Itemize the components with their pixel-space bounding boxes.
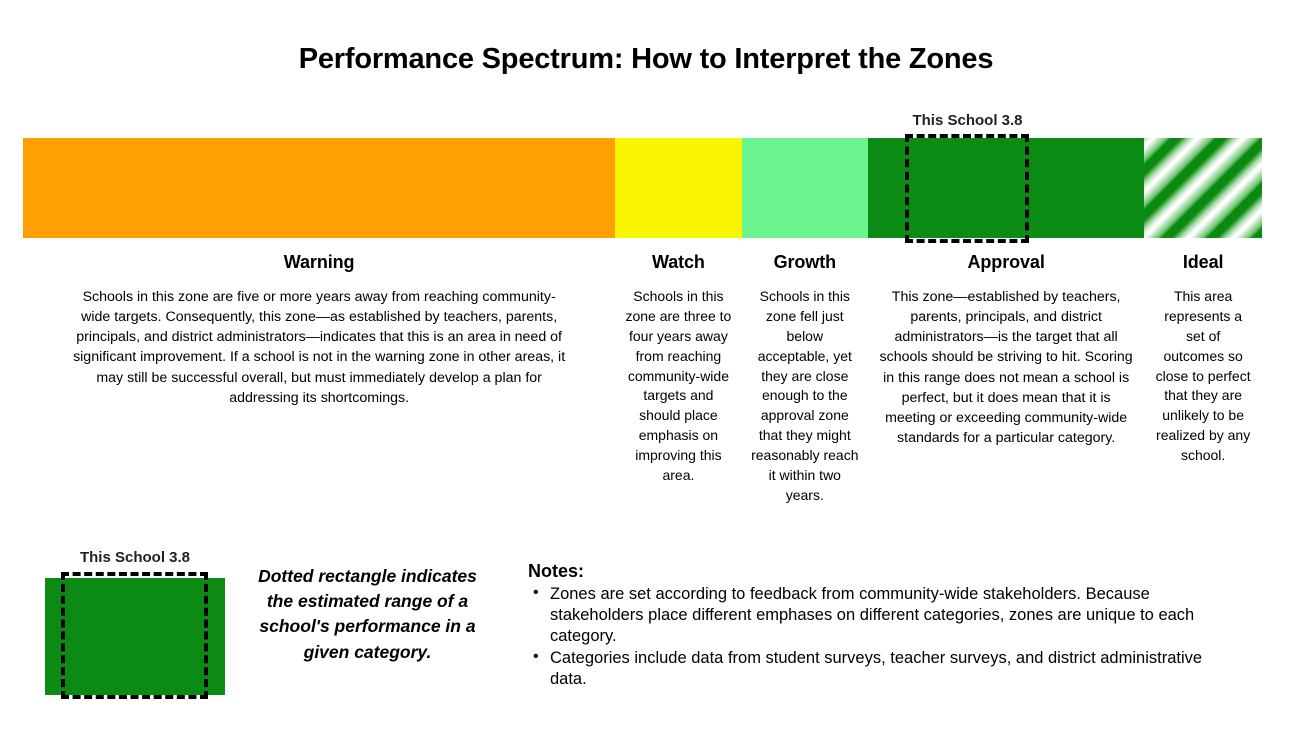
- legend-caption: Dotted rectangle indicates the estimated…: [255, 564, 480, 665]
- note-item: Categories include data from student sur…: [528, 648, 1228, 690]
- notes-heading: Notes:: [528, 561, 1228, 582]
- zone-description-approval: This zone—established by teachers, paren…: [868, 287, 1144, 448]
- zone-label-approval: Approval: [868, 252, 1144, 273]
- zone-column-growth: GrowthSchools in this zone fell just bel…: [742, 252, 868, 506]
- notes-section: Notes: Zones are set according to feedba…: [528, 561, 1228, 691]
- zone-description-ideal: This area represents a set of outcomes s…: [1144, 287, 1262, 466]
- zone-label-warning: Warning: [23, 252, 615, 273]
- page-title: Performance Spectrum: How to Interpret t…: [0, 43, 1292, 76]
- this-school-marker-label: This School 3.8: [845, 112, 1090, 129]
- zone-band-watch: [615, 138, 741, 238]
- notes-list: Zones are set according to feedback from…: [528, 584, 1228, 690]
- zone-column-watch: WatchSchools in this zone are three to f…: [615, 252, 741, 486]
- zone-label-watch: Watch: [615, 252, 741, 273]
- zone-description-watch: Schools in this zone are three to four y…: [615, 287, 741, 486]
- zone-column-warning: WarningSchools in this zone are five or …: [23, 252, 615, 408]
- note-item: Zones are set according to feedback from…: [528, 584, 1228, 647]
- zone-description-warning: Schools in this zone are five or more ye…: [23, 287, 615, 408]
- performance-spectrum-bar: [23, 138, 1262, 238]
- zone-band-ideal: [1144, 138, 1262, 238]
- zone-column-ideal: IdealThis area represents a set of outco…: [1144, 252, 1262, 466]
- zone-description-growth: Schools in this zone fell just below acc…: [742, 287, 868, 506]
- zone-description-columns: WarningSchools in this zone are five or …: [23, 252, 1262, 522]
- zone-label-growth: Growth: [742, 252, 868, 273]
- zone-band-growth: [742, 138, 868, 238]
- legend-marker-label: This School 3.8: [30, 549, 240, 566]
- zone-label-ideal: Ideal: [1144, 252, 1262, 273]
- zone-band-warning: [23, 138, 615, 238]
- this-school-marker-rect: [905, 134, 1029, 243]
- legend-dotted-rect: [61, 572, 208, 699]
- zone-column-approval: ApprovalThis zone—established by teacher…: [868, 252, 1144, 448]
